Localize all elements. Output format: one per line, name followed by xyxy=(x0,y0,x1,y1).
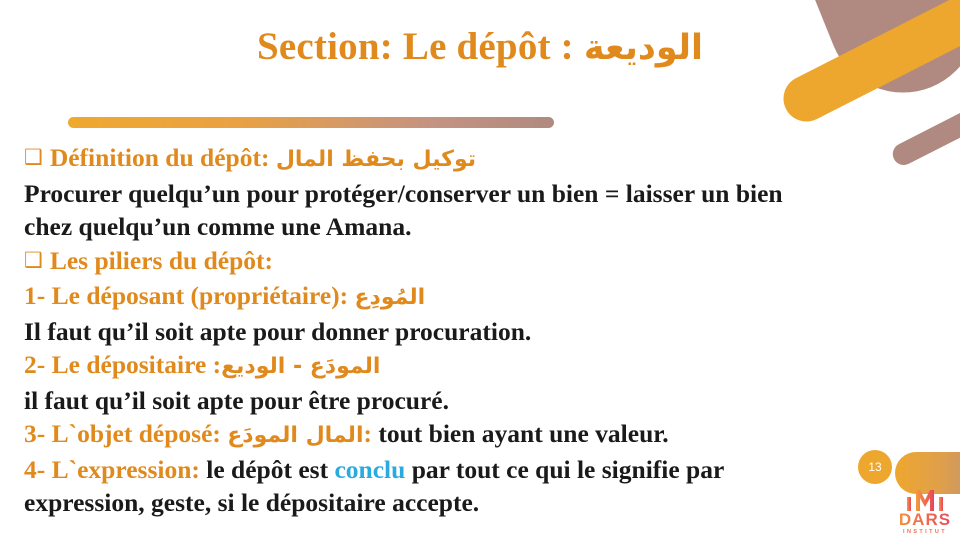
pillar-4-text-b: par tout ce qui le signifie par xyxy=(412,455,725,484)
pillar-1-arabic: المُودِع xyxy=(355,285,426,310)
dars-logo-mark-icon xyxy=(905,489,945,511)
pillar-2-label: 2- Le dépositaire : xyxy=(24,350,221,379)
slide-number-badge: 13 xyxy=(858,450,892,484)
pillar-4: 4- L`expression: le dépôt est conclu par… xyxy=(24,453,944,487)
slide-title: Section: Le dépôt : الوديعة xyxy=(0,24,960,69)
dars-logo: DARS INSTITUT xyxy=(892,489,958,537)
dars-logo-word: DARS xyxy=(892,511,958,528)
slide-title-arabic: الوديعة xyxy=(584,28,703,68)
pillar-4-highlight: conclu xyxy=(334,455,405,484)
pillar-3-text: tout bien ayant une valeur. xyxy=(378,419,668,448)
square-bullet-icon: ❑ xyxy=(24,145,43,169)
bullet-definition-arabic: توكيل بحفظ المال xyxy=(276,147,476,172)
bullet-pillars-label: Les piliers du dépôt: xyxy=(50,246,273,275)
pillar-1: 1- Le déposant (propriétaire): المُودِع xyxy=(24,279,944,315)
pillar-3-label: 3- L`objet déposé: xyxy=(24,419,221,448)
pillar-3: 3- L`objet déposé: المال المودَع: tout b… xyxy=(24,417,944,453)
slide-body: ❑Définition du dépôt: توكيل بحفظ المال P… xyxy=(24,141,944,520)
definition-text-line2: chez quelqu’un comme une Amana. xyxy=(24,210,944,244)
pillar-2: 2- Le dépositaire :المودَع - الوديع xyxy=(24,348,944,384)
pillar-4-text-line2: expression, geste, si le dépositaire acc… xyxy=(24,486,944,520)
pillar-2-text: il faut qu’il soit apte pour être procur… xyxy=(24,384,944,418)
title-divider xyxy=(68,117,554,128)
definition-text-line1: Procurer quelqu’un pour protéger/conserv… xyxy=(24,177,944,211)
slide-canvas: Section: Le dépôt : الوديعة ❑Définition … xyxy=(0,0,960,540)
pillar-3-arabic: المال المودَع xyxy=(227,423,363,448)
pillar-2-arabic: المودَع - الوديع xyxy=(221,354,380,379)
bullet-definition-label: Définition du dépôt: xyxy=(50,143,270,172)
pillar-4-text-a: le dépôt est xyxy=(206,455,328,484)
pillar-3-colon: : xyxy=(364,419,373,448)
square-bullet-icon: ❑ xyxy=(24,248,43,272)
pillar-4-label: 4- L`expression: xyxy=(24,455,200,484)
bullet-definition: ❑Définition du dépôt: توكيل بحفظ المال xyxy=(24,141,944,177)
dars-logo-subtitle: INSTITUT xyxy=(892,528,958,536)
pillar-1-label: 1- Le déposant (propriétaire): xyxy=(24,281,348,310)
pillar-1-text: Il faut qu’il soit apte pour donner proc… xyxy=(24,315,944,349)
slide-title-french: Section: Le dépôt : xyxy=(257,25,574,68)
bullet-pillars: ❑Les piliers du dépôt: xyxy=(24,244,944,280)
